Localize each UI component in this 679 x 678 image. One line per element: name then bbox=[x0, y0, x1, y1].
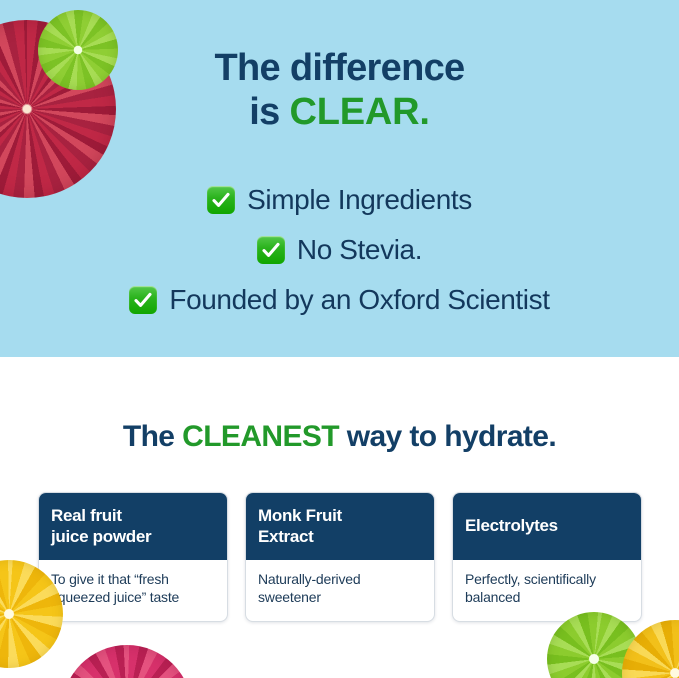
section-title-prefix: The bbox=[123, 420, 182, 453]
benefit-item: Founded by an Oxford Scientist bbox=[0, 278, 679, 322]
feature-card: Monk Fruit Extract Naturally-derived swe… bbox=[245, 492, 435, 622]
hero-panel: The difference is CLEAR. Simple Ingredie… bbox=[0, 0, 679, 357]
promo-infographic: The difference is CLEAR. Simple Ingredie… bbox=[0, 0, 679, 678]
feature-card-header-line-1: Real fruit bbox=[51, 506, 215, 526]
blood-orange-slice-bottom-left-icon bbox=[62, 645, 192, 678]
hero-title-line-2-prefix: is bbox=[249, 91, 289, 133]
benefit-label: Founded by an Oxford Scientist bbox=[169, 284, 549, 316]
benefit-item: Simple Ingredients bbox=[0, 178, 679, 222]
green-check-icon bbox=[257, 236, 285, 264]
feature-card-header-line-1: Electrolytes bbox=[465, 516, 629, 536]
green-check-icon bbox=[129, 286, 157, 314]
feature-cards: Real fruit juice powder To give it that … bbox=[38, 492, 642, 622]
hero-title-accent: CLEAR. bbox=[289, 91, 429, 133]
hero-title-line-2: is CLEAR. bbox=[0, 90, 679, 134]
section-title-suffix: way to hydrate. bbox=[339, 420, 556, 453]
hero-title-line-1: The difference bbox=[0, 46, 679, 90]
feature-card-header: Electrolytes bbox=[453, 493, 641, 560]
feature-card-header-line-2: Extract bbox=[258, 527, 422, 547]
feature-card-header-line-2: juice powder bbox=[51, 527, 215, 547]
feature-card-header: Real fruit juice powder bbox=[39, 493, 227, 560]
hero-title: The difference is CLEAR. bbox=[0, 46, 679, 134]
feature-card: Real fruit juice powder To give it that … bbox=[38, 492, 228, 622]
section-title: The CLEANEST way to hydrate. bbox=[0, 420, 679, 454]
feature-card: Electrolytes Perfectly, scientifically b… bbox=[452, 492, 642, 622]
feature-card-header-line-1: Monk Fruit bbox=[258, 506, 422, 526]
benefits-list: Simple Ingredients No Stevia. Founded by… bbox=[0, 178, 679, 328]
section-title-accent: CLEANEST bbox=[182, 420, 339, 453]
feature-card-header: Monk Fruit Extract bbox=[246, 493, 434, 560]
benefit-label: No Stevia. bbox=[297, 234, 422, 266]
benefit-item: No Stevia. bbox=[0, 228, 679, 272]
feature-card-body: Naturally-derived sweetener bbox=[246, 560, 434, 621]
green-check-icon bbox=[207, 186, 235, 214]
feature-card-body: Perfectly, scientifically balanced bbox=[453, 560, 641, 621]
benefit-label: Simple Ingredients bbox=[247, 184, 472, 216]
feature-card-body: To give it that “fresh squeezed juice” t… bbox=[39, 560, 227, 621]
